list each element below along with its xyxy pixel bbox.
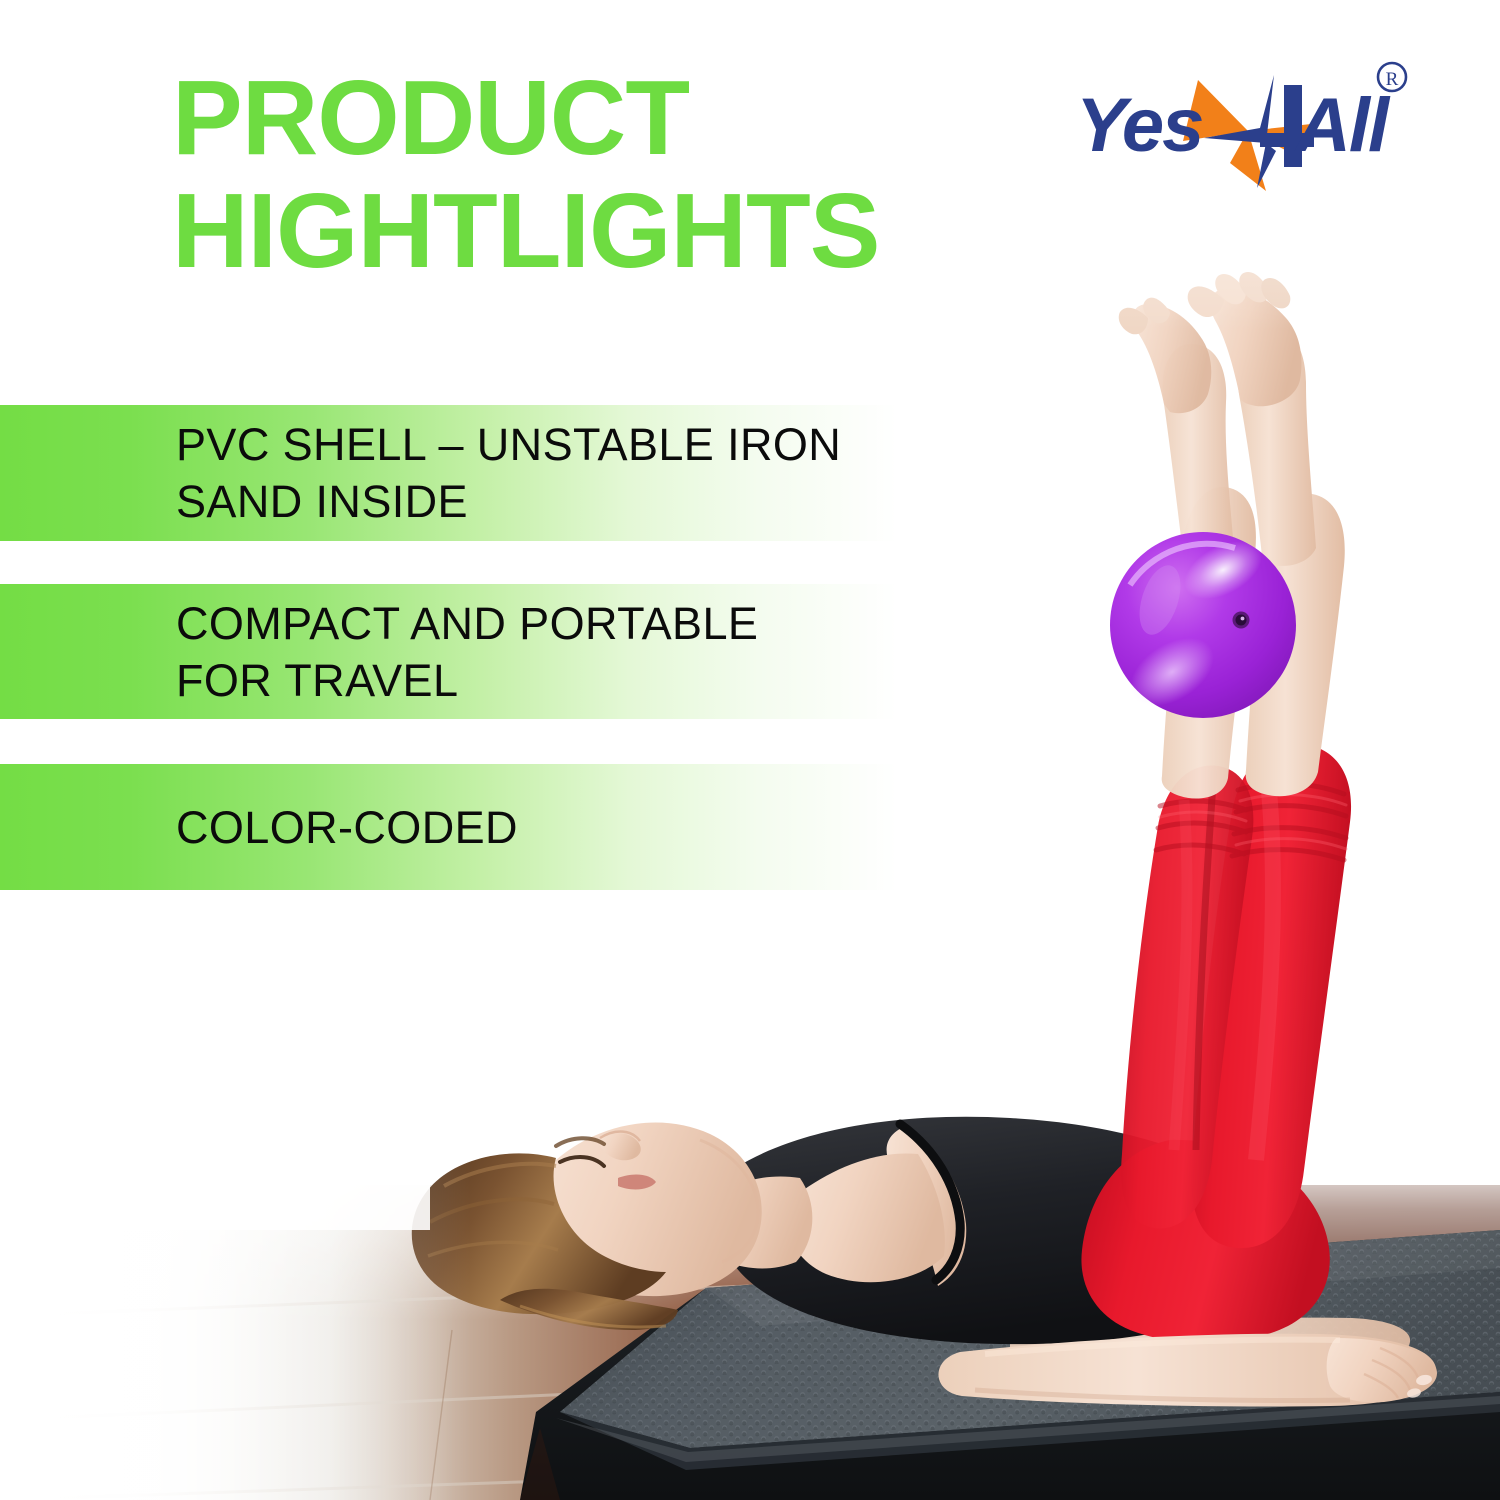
page-title: PRODUCT HIGHTLIGHTS	[172, 62, 912, 288]
registered-trademark-icon: R	[1378, 63, 1406, 91]
svg-text:Yes: Yes	[1076, 83, 1202, 168]
page-title-line-2: HIGHTLIGHTS	[172, 175, 912, 288]
feature-text-color-coded: COLOR-CODED	[176, 799, 548, 856]
feature-bar-compact-portable: COMPACT AND PORTABLE FOR TRAVEL	[0, 584, 925, 719]
page-title-line-1: PRODUCT	[172, 62, 912, 175]
feature-bar-color-coded: COLOR-CODED	[0, 764, 925, 890]
product-highlights-banner: PVC SHELL – UNSTABLE IRON SAND INSIDE CO…	[0, 0, 1500, 1500]
svg-text:R: R	[1386, 69, 1399, 90]
feature-bar-pvc-shell: PVC SHELL – UNSTABLE IRON SAND INSIDE	[0, 405, 925, 541]
logo-text-yes: Yes	[1076, 83, 1202, 168]
feature-text-compact-portable: COMPACT AND PORTABLE FOR TRAVEL	[176, 595, 788, 709]
brand-logo-yes4all: Yes All R	[1052, 55, 1422, 200]
svg-text:All: All	[1294, 83, 1391, 168]
feature-text-pvc-shell: PVC SHELL – UNSTABLE IRON SAND INSIDE	[176, 416, 871, 530]
logo-text-all: All	[1294, 83, 1391, 168]
